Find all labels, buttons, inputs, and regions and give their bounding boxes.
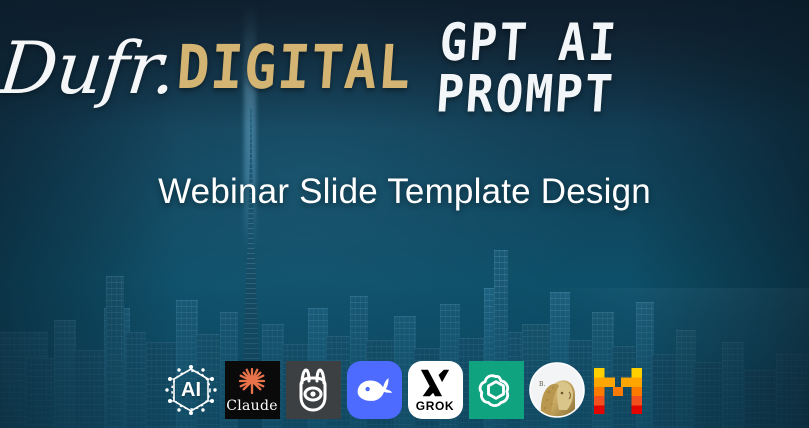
slide-title: Webinar Slide Template Design (0, 172, 809, 212)
llama-icon (293, 367, 333, 413)
ai-badge-icon: AI (164, 361, 219, 419)
grok-x-icon (419, 368, 451, 398)
openai-knot-icon (476, 370, 516, 410)
logo-deepseek[interactable] (346, 360, 403, 420)
deepseek-tile (347, 361, 402, 419)
mistral-m-icon (592, 364, 644, 416)
athena-tile: B. (530, 361, 585, 419)
logo-claude[interactable]: Claude (224, 360, 281, 420)
svg-text:B.: B. (539, 381, 545, 388)
claude-starburst-icon (237, 366, 267, 396)
claude-tile: Claude (225, 361, 280, 419)
logo-ai-badge[interactable]: AI (163, 360, 220, 420)
openai-tile (469, 361, 524, 419)
presentation-slide: Dufr. DIGITAL GPT AI PROMPT Webinar Slid… (0, 0, 809, 428)
logo-llama[interactable] (285, 360, 342, 420)
mistral-tile (591, 361, 646, 419)
ai-badge-label: AI (181, 379, 201, 402)
logo-grok[interactable]: GROK (407, 360, 464, 420)
claude-wordmark: Claude (226, 398, 278, 414)
deepseek-whale-icon (354, 373, 394, 407)
classical-head-icon: B. (529, 362, 585, 418)
grok-tile: GROK (408, 361, 463, 419)
ai-logo-strip: AI (0, 360, 809, 420)
grok-wordmark: GROK (416, 399, 454, 413)
llama-tile (286, 361, 341, 419)
logo-athena-avatar[interactable]: B. (529, 360, 586, 420)
logo-openai[interactable] (468, 360, 525, 420)
logo-mistral[interactable] (590, 360, 647, 420)
